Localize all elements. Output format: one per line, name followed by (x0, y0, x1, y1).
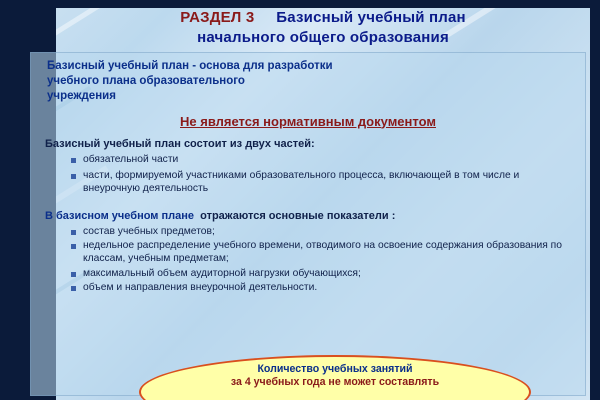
section-spacer (41, 202, 575, 210)
list-item-label: объем и направления внеурочной деятельно… (83, 282, 317, 293)
top-band (0, 0, 600, 8)
slide-canvas: РАЗДЕЛ 3 Базисный учебный план начальног… (0, 0, 600, 400)
slide-title: РАЗДЕЛ 3 Базисный учебный план начальног… (56, 8, 590, 49)
list-item-label: недельное распределение учебного времени… (83, 240, 562, 264)
list-item-label: обязательной части (83, 154, 178, 165)
lead-line-1: Базисный учебный план - основа для разра… (47, 60, 333, 72)
list-item: недельное распределение учебного времени… (71, 239, 575, 266)
list-item: части, формируемой участниками образоват… (71, 169, 575, 196)
block2-intro: В базисном учебном плане отражаются осно… (45, 210, 575, 222)
list-item: объем и направления внеурочной деятельно… (71, 281, 575, 294)
square-bullet-icon (71, 174, 76, 179)
block1-list: обязательной части части, формируемой уч… (41, 153, 575, 196)
list-item: максимальный объем аудиторной нагрузки о… (71, 267, 575, 280)
square-bullet-icon (71, 158, 76, 163)
block1-intro: Базисный учебный план состоит из двух ча… (45, 138, 575, 150)
section-label: РАЗДЕЛ 3 (180, 9, 254, 26)
content-panel: Базисный учебный план - основа для разра… (30, 52, 586, 396)
callout-oval: Количество учебных занятий за 4 учебных … (139, 355, 531, 400)
square-bullet-icon (71, 286, 76, 291)
square-bullet-icon (71, 230, 76, 235)
callout-line-1: Количество учебных занятий (141, 363, 529, 376)
list-item: состав учебных предметов; (71, 225, 575, 238)
block2-intro-rest: отражаются основные показатели : (200, 210, 395, 222)
square-bullet-icon (71, 272, 76, 277)
block2-list: состав учебных предметов; недельное расп… (41, 225, 575, 295)
lead-line-3: учреждения (47, 90, 116, 102)
lead-line-2: учебного плана образовательного (47, 75, 245, 87)
title-line1-rest: Базисный учебный план (276, 9, 466, 26)
square-bullet-icon (71, 244, 76, 249)
callout-line-2: за 4 учебных года не может составлять (141, 376, 529, 389)
headline-not-normative: Не является нормативным документом (41, 114, 575, 129)
list-item-label: части, формируемой участниками образоват… (83, 170, 519, 194)
title-line2: начального общего образования (56, 28, 590, 48)
lead-text: Базисный учебный план - основа для разра… (47, 59, 575, 105)
list-item-label: состав учебных предметов; (83, 226, 215, 237)
block2-intro-bold: В базисном учебном плане (45, 210, 194, 222)
list-item: обязательной части (71, 153, 575, 166)
list-item-label: максимальный объем аудиторной нагрузки о… (83, 268, 361, 279)
right-band (590, 0, 600, 400)
